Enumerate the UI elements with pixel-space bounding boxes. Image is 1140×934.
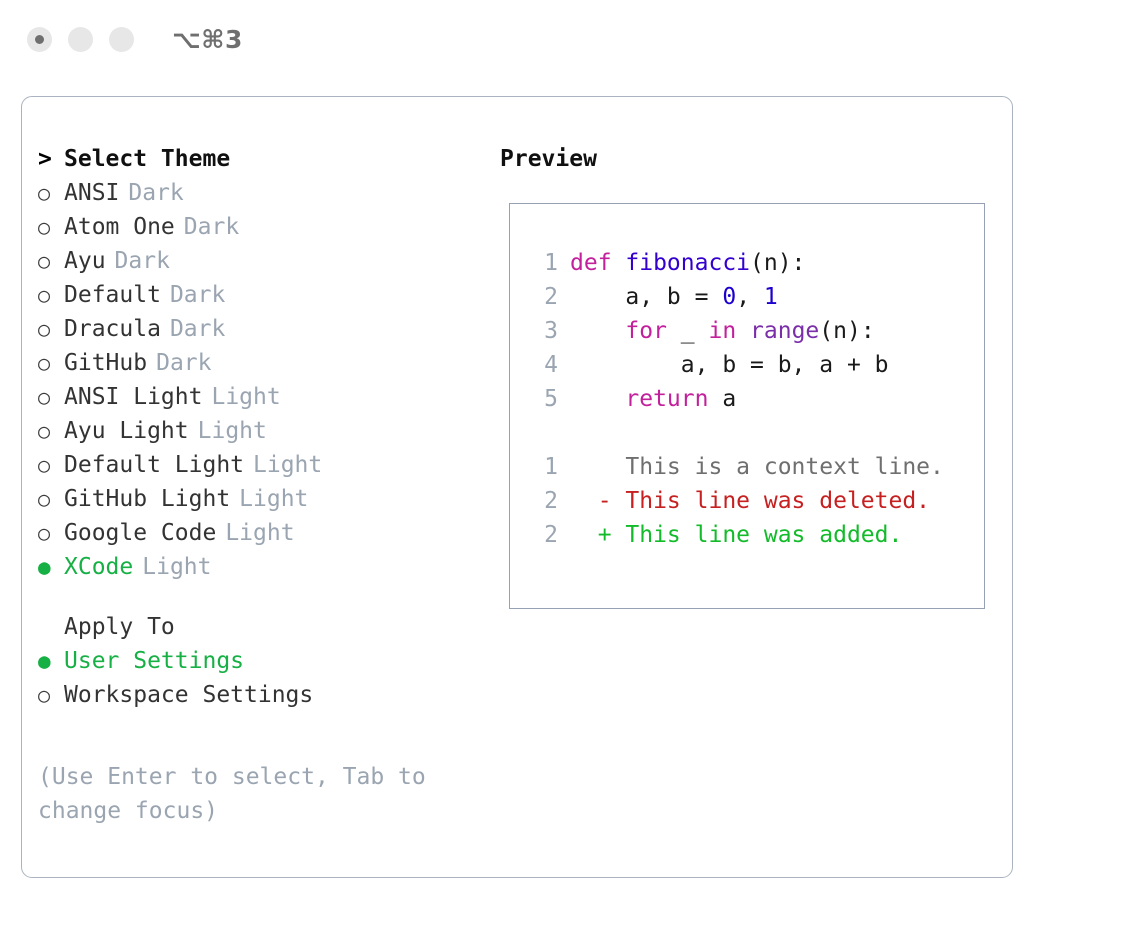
radio-selected-icon[interactable]: ● [38,550,64,584]
code-line-number: 1 [528,246,558,280]
code-token: for [625,318,667,344]
radio-unselected-icon[interactable]: ○ [38,678,64,712]
apply-to-item-label: User Settings [64,644,244,678]
theme-name-label: Default [64,278,161,312]
code-token: a, b = b, a + b [570,352,889,378]
caret-icon: > [38,142,64,176]
theme-selector-column: > Select Theme ○ANSIDark○Atom OneDark○Ay… [38,142,468,712]
theme-kind-label: Dark [170,278,225,312]
code-sample: 1def fibonacci(n):2 a, b = 0, 13 for _ i… [528,246,978,416]
radio-unselected-icon[interactable]: ○ [38,278,64,312]
code-token: _ [667,318,709,344]
radio-unselected-icon[interactable]: ○ [38,210,64,244]
diff-sample: 1 This is a context line.2 - This line w… [528,450,978,552]
theme-list-item[interactable]: ○ANSIDark [38,176,468,210]
theme-name-label: ANSI [64,176,119,210]
radio-unselected-icon[interactable]: ○ [38,414,64,448]
theme-list-item[interactable]: ○GitHubDark [38,346,468,380]
code-token: in [708,318,736,344]
code-line-content: a, b = 0, 1 [570,280,778,314]
code-token [736,318,750,344]
preview-code-area: 1def fibonacci(n):2 a, b = 0, 13 for _ i… [528,246,978,552]
window-dot-second[interactable] [68,27,93,52]
diff-sign [570,454,625,480]
theme-list-item[interactable]: ○ANSI LightLight [38,380,468,414]
section-spacer [38,584,468,610]
apply-to-item[interactable]: ●User Settings [38,644,468,678]
window-content: > Select Theme ○ANSIDark○Atom OneDark○Ay… [22,97,1012,877]
keyboard-shortcut-label: ⌥⌘3 [172,25,243,54]
apply-to-list: ●User Settings○Workspace Settings [38,644,468,712]
radio-unselected-icon[interactable]: ○ [38,176,64,210]
preview-column: Preview [500,142,990,176]
code-token: a, b = [570,284,722,310]
apply-to-marker-placeholder: ○ [38,610,64,644]
theme-name-label: Dracula [64,312,161,346]
code-token [570,386,625,412]
diff-line: 2 - This line was deleted. [528,484,978,518]
code-diff-spacer [528,416,978,450]
window-controls [27,27,134,52]
code-token: 0 [722,284,736,310]
code-line-content: for _ in range(n): [570,314,875,348]
radio-selected-icon[interactable]: ● [38,644,64,678]
code-line-content: def fibonacci(n): [570,246,805,280]
keyboard-hint-text: (Use Enter to select, Tab to change focu… [38,760,458,828]
radio-unselected-icon[interactable]: ○ [38,346,64,380]
preview-title: Preview [500,142,990,176]
diff-sign: + [570,522,625,548]
theme-list-item[interactable]: ○DraculaDark [38,312,468,346]
theme-kind-label: Dark [128,176,183,210]
theme-name-label: Ayu [64,244,106,278]
diff-line: 2 + This line was added. [528,518,978,552]
code-token: return [625,386,708,412]
code-token: fibonacci [625,250,750,276]
code-token: def [570,250,625,276]
theme-list-item[interactable]: ○DefaultDark [38,278,468,312]
code-line-number: 3 [528,314,558,348]
code-token: a [708,386,736,412]
theme-name-label: GitHub Light [64,482,230,516]
diff-line-number: 2 [528,518,558,552]
radio-unselected-icon[interactable]: ○ [38,482,64,516]
apply-to-item[interactable]: ○Workspace Settings [38,678,468,712]
code-line: 3 for _ in range(n): [528,314,978,348]
radio-unselected-icon[interactable]: ○ [38,448,64,482]
diff-line-number: 2 [528,484,558,518]
code-token: range [750,318,819,344]
diff-line-content: - This line was deleted. [570,484,930,518]
theme-list-item[interactable]: ○GitHub LightLight [38,482,468,516]
select-theme-heading: > Select Theme [38,142,468,176]
theme-list-item[interactable]: ●XCodeLight [38,550,468,584]
theme-kind-label: Dark [184,210,239,244]
diff-line-content: This is a context line. [570,450,944,484]
code-token [570,318,625,344]
theme-kind-label: Dark [156,346,211,380]
diff-sign: - [570,488,625,514]
window-dot-third[interactable] [109,27,134,52]
theme-list-item[interactable]: ○Default LightLight [38,448,468,482]
diff-line: 1 This is a context line. [528,450,978,484]
code-token: (n): [819,318,874,344]
theme-name-label: ANSI Light [64,380,202,414]
code-line-number: 4 [528,348,558,382]
apply-to-heading-label: Apply To [64,610,175,644]
theme-list-item[interactable]: ○Atom OneDark [38,210,468,244]
radio-unselected-icon[interactable]: ○ [38,244,64,278]
code-token: (n): [750,250,805,276]
theme-list-item[interactable]: ○Google CodeLight [38,516,468,550]
theme-name-label: GitHub [64,346,147,380]
preview-box: 1def fibonacci(n):2 a, b = 0, 13 for _ i… [509,203,985,609]
theme-name-label: Atom One [64,210,175,244]
theme-kind-label: Dark [170,312,225,346]
theme-name-label: Google Code [64,516,216,550]
code-line-number: 5 [528,382,558,416]
diff-line-content: + This line was added. [570,518,902,552]
theme-kind-label: Light [211,380,280,414]
theme-name-label: Default Light [64,448,244,482]
diff-text: This line was added. [625,522,902,548]
diff-text: This line was deleted. [625,488,930,514]
code-token: 1 [764,284,778,310]
theme-kind-label: Light [239,482,308,516]
code-line-content: return a [570,382,736,416]
main-window-panel: > Select Theme ○ANSIDark○Atom OneDark○Ay… [21,96,1013,878]
radio-unselected-icon[interactable]: ○ [38,380,64,414]
theme-kind-label: Light [142,550,211,584]
theme-list-item[interactable]: ○AyuDark [38,244,468,278]
theme-list-item[interactable]: ○Ayu LightLight [38,414,468,448]
window-dot-active-inner [35,35,44,44]
theme-kind-label: Light [198,414,267,448]
apply-to-heading: ○ Apply To [38,610,468,644]
code-line: 5 return a [528,382,978,416]
code-line: 2 a, b = 0, 1 [528,280,978,314]
code-line: 1def fibonacci(n): [528,246,978,280]
diff-line-number: 1 [528,450,558,484]
window-titlebar: ⌥⌘3 [0,0,1140,78]
theme-name-label: XCode [64,550,133,584]
theme-kind-label: Light [225,516,294,550]
theme-kind-label: Light [253,448,322,482]
code-line: 4 a, b = b, a + b [528,348,978,382]
window-dot-active[interactable] [27,27,52,52]
apply-to-item-label: Workspace Settings [64,678,313,712]
diff-text: This is a context line. [625,454,944,480]
radio-unselected-icon[interactable]: ○ [38,516,64,550]
theme-kind-label: Dark [115,244,170,278]
select-theme-heading-label: Select Theme [64,142,230,176]
radio-unselected-icon[interactable]: ○ [38,312,64,346]
code-line-number: 2 [528,280,558,314]
code-line-content: a, b = b, a + b [570,348,889,382]
theme-name-label: Ayu Light [64,414,189,448]
theme-list: ○ANSIDark○Atom OneDark○AyuDark○DefaultDa… [38,176,468,584]
code-token: , [736,284,764,310]
